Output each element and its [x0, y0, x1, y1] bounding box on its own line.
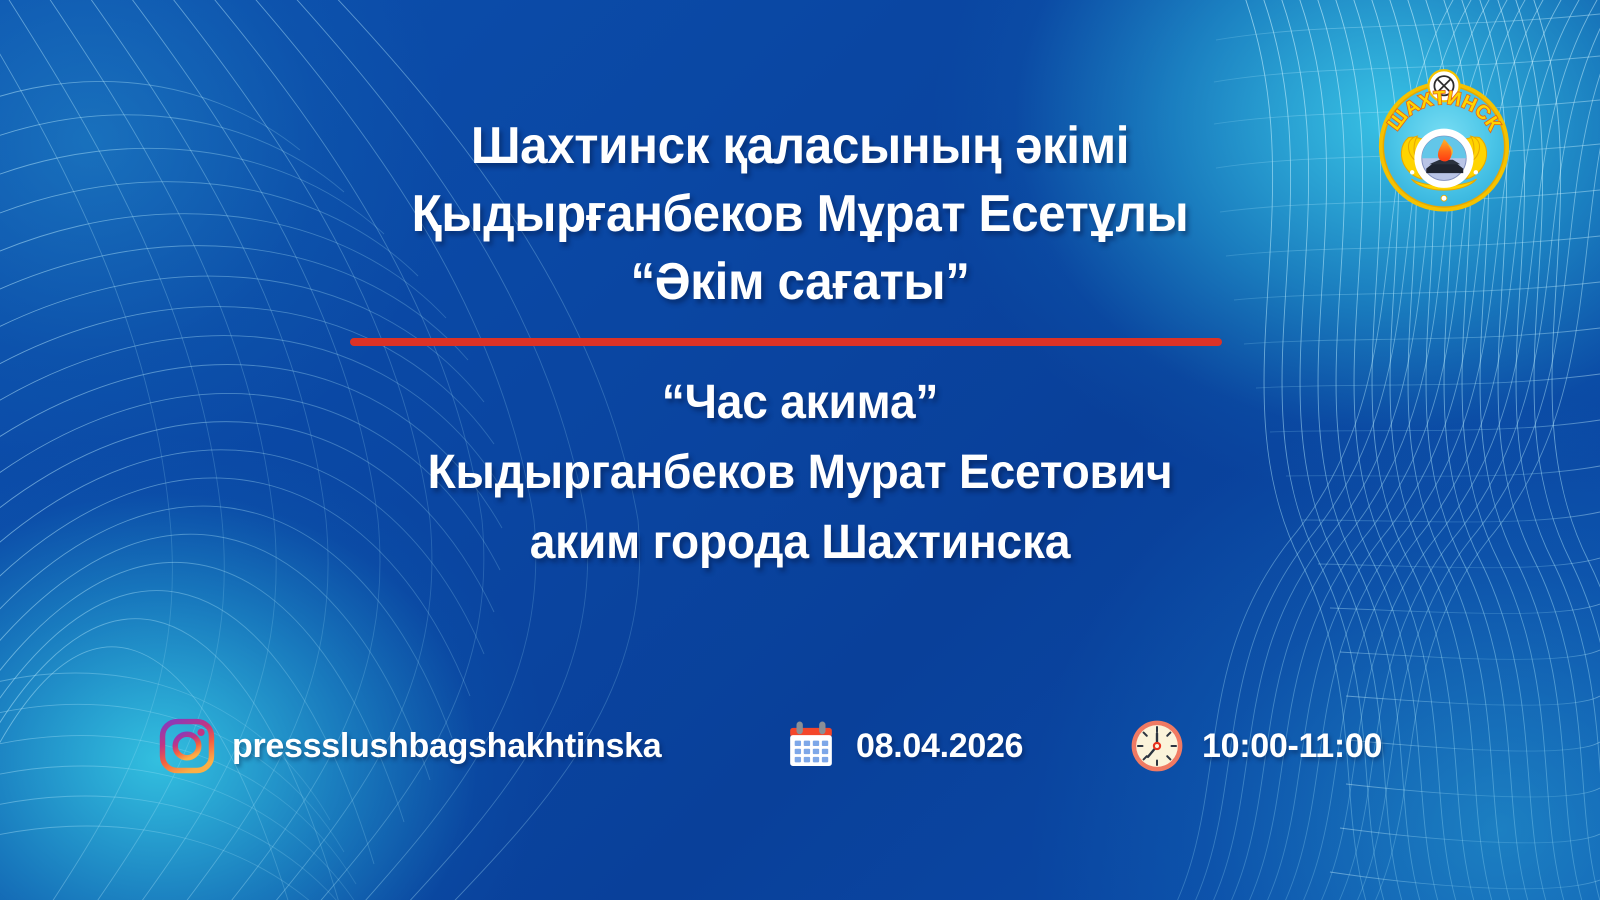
event-date-label: 08.04.2026	[856, 727, 1023, 766]
event-time-group: 10:00-11:00	[1128, 700, 1382, 792]
subtitle-line-1: “Час акима”	[32, 368, 1568, 438]
clock-icon	[1128, 717, 1186, 775]
title-kazakh: Шахтинск қаласының әкімі Қыдырғанбеков М…	[0, 112, 1600, 316]
subtitle-russian: “Час акима” Кыдырганбеков Мурат Есетович…	[0, 368, 1600, 578]
calendar-icon	[782, 717, 840, 775]
instagram-handle-label: pressslushbagshakhtinska	[232, 727, 661, 766]
instagram-icon	[158, 717, 216, 775]
title-line-3: “Әкім сағаты”	[40, 248, 1560, 316]
event-time-label: 10:00-11:00	[1202, 727, 1382, 766]
banner-canvas: ШАХТИНСК Шахтинск қаласының әкімі Қыдырғ…	[0, 0, 1600, 900]
divider-container	[350, 338, 1222, 346]
event-date-group: 08.04.2026	[782, 700, 1023, 792]
title-line-2: Қыдырғанбеков Мұрат Есетұлы	[40, 180, 1560, 248]
subtitle-line-3: аким города Шахтинска	[32, 508, 1568, 578]
subtitle-line-2: Кыдырганбеков Мурат Есетович	[32, 438, 1568, 508]
red-divider-line	[350, 338, 1222, 346]
instagram-handle-group[interactable]: pressslushbagshakhtinska	[158, 700, 661, 792]
footer-bar: pressslushbagshakhtinska	[0, 700, 1600, 792]
title-line-1: Шахтинск қаласының әкімі	[40, 112, 1560, 180]
